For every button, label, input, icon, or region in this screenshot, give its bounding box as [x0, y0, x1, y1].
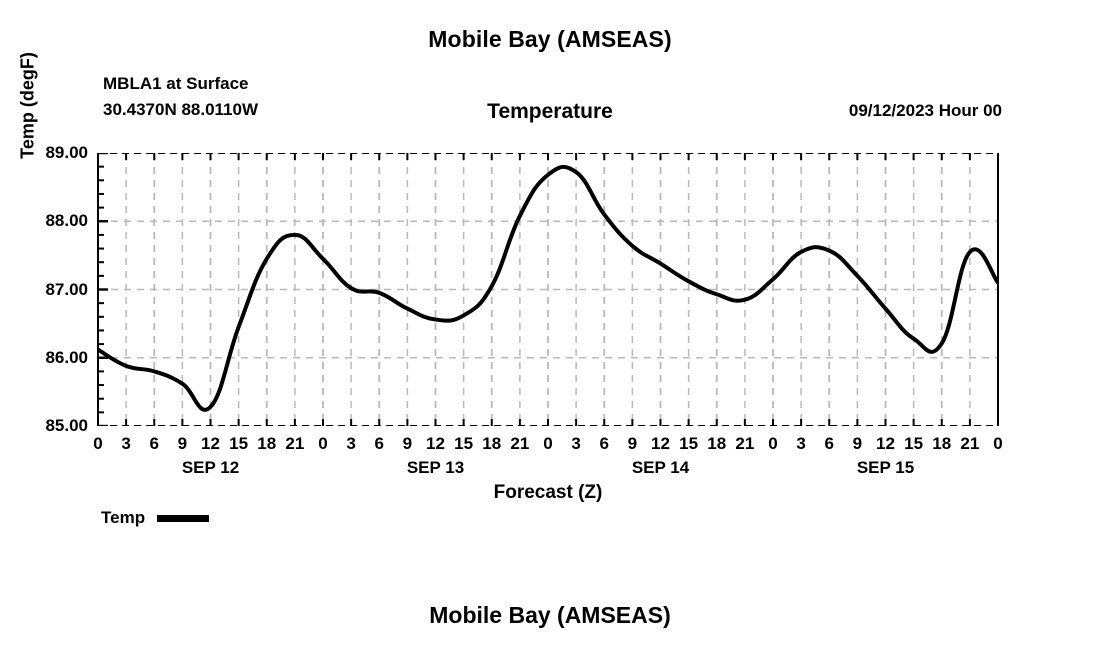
chart-page: Mobile Bay (AMSEAS) MBLA1 at Surface 30.… [0, 0, 1100, 650]
plot-area [97, 153, 999, 426]
x-day-label: SEP 15 [857, 458, 914, 478]
x-day-label: SEP 12 [182, 458, 239, 478]
page-title-bottom: Mobile Bay (AMSEAS) [0, 602, 1100, 629]
legend-swatch-temp [157, 515, 209, 522]
right-axis-line [997, 153, 999, 426]
y-axis-line [97, 153, 99, 426]
x-day-label: SEP 13 [407, 458, 464, 478]
data-series-temp [97, 153, 999, 426]
x-day-label: SEP 14 [632, 458, 689, 478]
x-axis-title: Forecast (Z) [494, 482, 603, 504]
legend-label-temp: Temp [101, 508, 145, 528]
legend: Temp [101, 508, 209, 528]
